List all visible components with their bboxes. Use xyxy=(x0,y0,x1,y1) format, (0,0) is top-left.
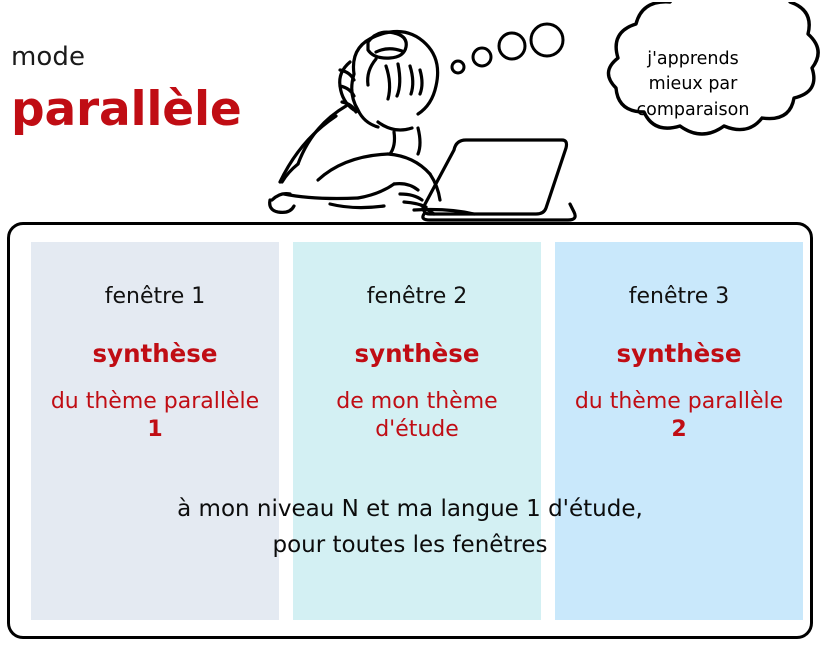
panel-2-synthese-label: synthèse xyxy=(293,339,541,368)
panel-1-synthese-label: synthèse xyxy=(31,339,279,368)
panel-1-subtitle: du thème parallèle 1 xyxy=(31,388,279,444)
panel-2-window-label: fenêtre 2 xyxy=(293,284,541,310)
panel-1-subtitle-text: du thème parallèle xyxy=(51,389,259,414)
panel-3-subtitle-text: du thème parallèle xyxy=(575,389,783,414)
panel-3-synthese-label: synthèse xyxy=(555,339,803,368)
panel-fenetre-2[interactable]: fenêtre 2 synthèse de mon thème d'étude xyxy=(293,242,541,620)
panel-1-window-label: fenêtre 1 xyxy=(31,284,279,310)
page-title: parallèle xyxy=(11,86,242,133)
panels-row: fenêtre 1 synthèse du thème parallèle 1 … xyxy=(31,242,803,620)
mode-label: mode xyxy=(11,44,85,70)
panel-2-subtitle-line-1: de mon thème xyxy=(336,389,497,414)
panel-1-number: 1 xyxy=(147,417,162,442)
panel-2-subtitle-line-2: d'étude xyxy=(375,417,459,442)
panel-3-subtitle: du thème parallèle 2 xyxy=(555,388,803,444)
panel-1-content: fenêtre 1 synthèse du thème parallèle 1 xyxy=(31,242,279,444)
panel-3-window-label: fenêtre 3 xyxy=(555,284,803,310)
thought-line-3: comparaison xyxy=(637,98,750,123)
panel-3-content: fenêtre 3 synthèse du thème parallèle 2 xyxy=(555,242,803,444)
thought-cloud: j'apprends mieux par comparaison xyxy=(562,2,824,164)
panel-fenetre-3[interactable]: fenêtre 3 synthèse du thème parallèle 2 xyxy=(555,242,803,620)
thought-bubble-dots xyxy=(448,20,578,80)
panel-3-number: 2 xyxy=(671,417,686,442)
panel-2-content: fenêtre 2 synthèse de mon thème d'étude xyxy=(293,242,541,444)
panel-2-subtitle: de mon thème d'étude xyxy=(293,388,541,444)
thought-cloud-text: j'apprends mieux par comparaison xyxy=(562,2,824,164)
thought-line-2: mieux par xyxy=(649,72,738,97)
windows-container: fenêtre 1 synthèse du thème parallèle 1 … xyxy=(7,222,813,639)
header-region: mode parallèle xyxy=(0,0,829,222)
panel-fenetre-1[interactable]: fenêtre 1 synthèse du thème parallèle 1 xyxy=(31,242,279,620)
thought-line-1: j'apprends xyxy=(647,47,739,72)
